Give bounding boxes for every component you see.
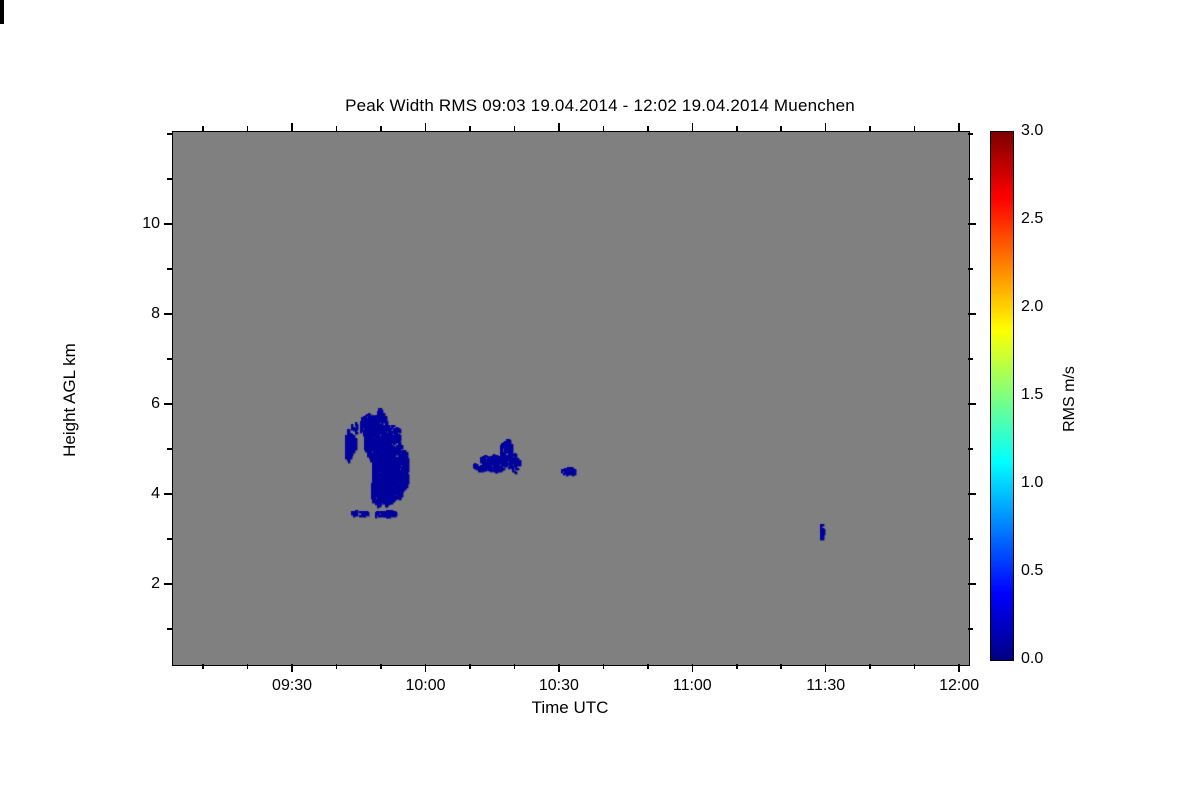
y-tick-minor (167, 628, 172, 630)
y-tick-minor (167, 268, 172, 270)
colorbar-tick-label: 0.5 (1021, 562, 1043, 580)
y-tick-minor-right (968, 538, 973, 540)
colorbar-tick-label: 1.0 (1021, 474, 1043, 492)
x-tick-major (825, 664, 827, 672)
y-tick-label: 4 (116, 485, 160, 503)
x-tick-minor (869, 664, 871, 669)
x-tick-minor-top (603, 126, 605, 131)
y-tick-label: 6 (116, 395, 160, 413)
y-tick-minor (167, 448, 172, 450)
y-tick-label: 10 (116, 215, 160, 233)
chart-figure: Peak Width RMS 09:03 19.04.2014 - 12:02 … (0, 0, 1200, 800)
y-tick-minor-right (968, 628, 973, 630)
x-tick-minor-top (647, 126, 649, 131)
colorbar-tick-minor (0, 23, 4, 24)
x-tick-minor (514, 664, 516, 669)
x-tick-major-top (958, 123, 960, 131)
x-tick-major-top (558, 123, 560, 131)
y-tick-minor (167, 538, 172, 540)
x-tick-minor-top (336, 126, 338, 131)
x-tick-minor-top (914, 126, 916, 131)
chart-title: Peak Width RMS 09:03 19.04.2014 - 12:02 … (0, 96, 1200, 116)
x-tick-minor-top (869, 126, 871, 131)
x-tick-minor (914, 664, 916, 669)
plot-area[interactable] (172, 131, 970, 666)
x-tick-minor (736, 664, 738, 669)
heatmap-canvas (173, 132, 969, 665)
y-tick-label: 8 (116, 305, 160, 323)
x-tick-major-top (425, 123, 427, 131)
x-tick-minor-top (247, 126, 249, 131)
colorbar-label: RMS m/s (1061, 309, 1079, 489)
x-tick-major (425, 664, 427, 672)
y-tick-minor-right (968, 178, 973, 180)
x-tick-label: 09:30 (272, 677, 312, 695)
y-axis-label: Height AGL km (60, 270, 80, 530)
y-tick-minor (167, 178, 172, 180)
x-tick-major (958, 664, 960, 672)
y-tick-major-right (968, 583, 976, 585)
x-tick-label: 10:30 (539, 677, 579, 695)
y-tick-minor (167, 133, 172, 135)
y-tick-major (164, 403, 172, 405)
x-tick-minor-top (202, 126, 204, 131)
x-tick-minor-top (780, 126, 782, 131)
x-tick-major (558, 664, 560, 672)
x-axis-label: Time UTC (172, 698, 968, 718)
colorbar-tick-label: 2.0 (1021, 298, 1043, 316)
x-tick-minor (647, 664, 649, 669)
x-tick-minor-top (380, 126, 382, 131)
colorbar-tick-label: 3.0 (1021, 122, 1043, 140)
y-tick-major-right (968, 493, 976, 495)
x-tick-minor-top (736, 126, 738, 131)
x-tick-label: 11:30 (806, 677, 845, 695)
y-tick-minor-right (968, 358, 973, 360)
x-tick-major (692, 664, 694, 672)
y-tick-minor-right (968, 268, 973, 270)
y-tick-minor (167, 358, 172, 360)
x-tick-minor (247, 664, 249, 669)
colorbar-tick-label: 1.5 (1021, 386, 1043, 404)
x-tick-major-top (692, 123, 694, 131)
y-tick-major (164, 493, 172, 495)
x-tick-major-top (291, 123, 293, 131)
x-tick-minor (336, 664, 338, 669)
y-tick-major (164, 313, 172, 315)
y-tick-major (164, 223, 172, 225)
y-tick-major-right (968, 313, 976, 315)
x-tick-label: 12:00 (939, 677, 979, 695)
y-tick-major-right (968, 223, 976, 225)
colorbar-gradient (991, 132, 1013, 660)
x-tick-minor-top (514, 126, 516, 131)
x-tick-major-top (825, 123, 827, 131)
y-tick-minor-right (968, 133, 973, 135)
x-tick-minor (380, 664, 382, 669)
x-tick-minor (202, 664, 204, 669)
x-tick-minor (780, 664, 782, 669)
y-tick-minor-right (968, 448, 973, 450)
x-tick-label: 10:00 (405, 677, 445, 695)
y-tick-major (164, 583, 172, 585)
colorbar[interactable] (990, 131, 1014, 661)
x-tick-label: 11:00 (673, 677, 712, 695)
x-tick-major (291, 664, 293, 672)
x-tick-minor (469, 664, 471, 669)
x-tick-minor-top (469, 126, 471, 131)
y-tick-label: 2 (116, 575, 160, 593)
colorbar-tick-label: 0.0 (1021, 650, 1043, 668)
x-tick-minor (603, 664, 605, 669)
colorbar-tick-label: 2.5 (1021, 210, 1043, 228)
y-tick-major-right (968, 403, 976, 405)
